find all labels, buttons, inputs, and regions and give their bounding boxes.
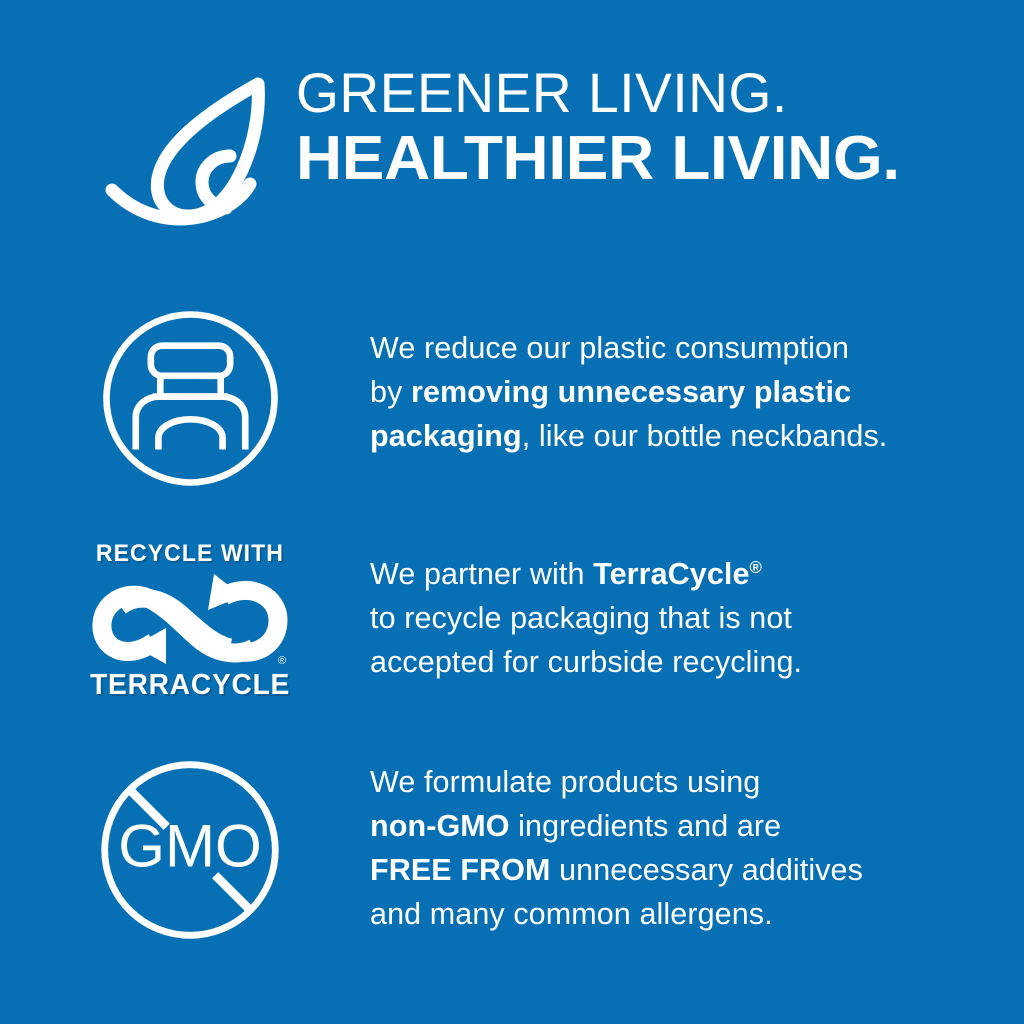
text-line: We partner with TerraCycle®	[370, 552, 980, 596]
gmo-label: GMO	[118, 812, 262, 879]
text-line: to recycle packaging that is not	[370, 596, 980, 640]
text-line: We formulate products using	[370, 760, 980, 804]
headline-block: GREENER LIVING. HEALTHIER LIVING.	[0, 62, 1024, 232]
feature-row-gmo: GMO We formulate products usingnon-GMO i…	[0, 742, 1024, 957]
terracycle-top-text: RECYCLE WITH	[96, 540, 284, 568]
text-line: packaging, like our bottle neckbands.	[370, 414, 980, 458]
terracycle-bottom-text: TERRACYCLE	[90, 669, 290, 702]
text-line: and many common allergens.	[370, 892, 980, 936]
feature-row-terracycle: RECYCLE WITH ®	[0, 528, 1024, 713]
text-line: by removing unnecessary plastic	[370, 370, 980, 414]
no-gmo-icon: GMO	[92, 742, 288, 957]
headline-text: GREENER LIVING. HEALTHIER LIVING.	[296, 62, 956, 192]
text-line: accepted for curbside recycling.	[370, 640, 980, 684]
text-line: We reduce our plastic consumption	[370, 326, 980, 370]
feature-row-plastic: We reduce our plastic consumptionby remo…	[0, 296, 1024, 501]
headline-line-2: HEALTHIER LIVING.	[296, 126, 976, 192]
feature-text-gmo: We formulate products usingnon-GMO ingre…	[370, 760, 980, 936]
svg-text:®: ®	[278, 655, 286, 667]
text-line: non-GMO ingredients and are	[370, 804, 980, 848]
leaf-icon	[108, 70, 288, 230]
text-line: FREE FROM unnecessary additives	[370, 848, 980, 892]
recycle-loop-icon: ®	[90, 570, 290, 668]
feature-text-plastic: We reduce our plastic consumptionby remo…	[370, 326, 980, 458]
headline-line-1: GREENER LIVING.	[296, 62, 946, 124]
promo-panel: GREENER LIVING. HEALTHIER LIVING. We red…	[0, 0, 1024, 1024]
bottle-neckband-icon	[92, 296, 288, 501]
terracycle-logo: RECYCLE WITH ®	[92, 528, 288, 713]
feature-text-terracycle: We partner with TerraCycle®to recycle pa…	[370, 552, 980, 684]
